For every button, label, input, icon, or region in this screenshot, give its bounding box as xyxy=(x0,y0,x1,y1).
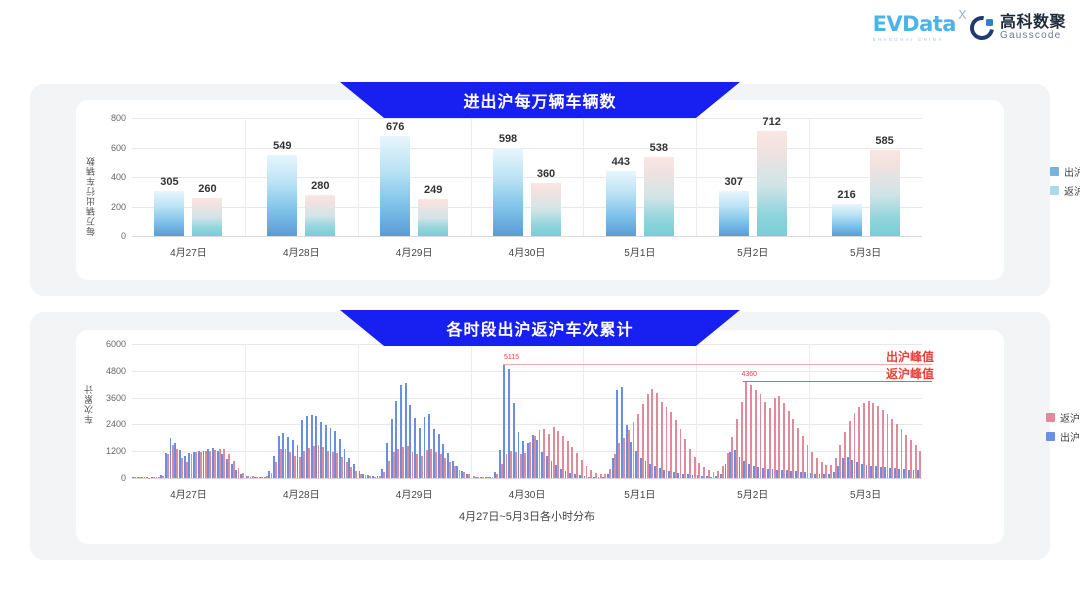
logo-group: EVDataX SHANGHAI CHINA 高科数聚 Gausscode xyxy=(873,14,1066,43)
chart1-legend-label-返沪: 返沪 xyxy=(1064,183,1080,198)
gausscode-en-name: Gausscode xyxy=(1000,31,1066,42)
chart2-peak-value-back: 4360 xyxy=(742,371,758,378)
chart2-bar-back-139 xyxy=(788,411,790,478)
chart2-x-tick-4月29日: 4月29日 xyxy=(396,486,433,501)
chart1-bar-value-返沪-4月28日: 280 xyxy=(311,180,329,192)
chart1-bar-出沪-4月28日 xyxy=(267,155,297,236)
gausscode-mark-icon xyxy=(970,16,994,40)
chart1-y-tick-800: 800 xyxy=(92,113,126,123)
section1-title: 进出沪每万辆车辆数 xyxy=(463,88,616,112)
chart1-bar-value-出沪-4月30日: 598 xyxy=(499,133,517,145)
chart1-x-separator xyxy=(809,118,810,236)
chart1-x-tick-5月1日: 5月1日 xyxy=(624,244,655,259)
chart1-bar-返沪-4月27日 xyxy=(192,198,222,236)
section2-panel: 车次累计0120024003600480060004月27日4月28日4月29日… xyxy=(30,312,1050,560)
chart2-gridline-2400 xyxy=(132,424,922,425)
chart2-x-separator xyxy=(245,344,246,478)
chart2-y-tick-6000: 6000 xyxy=(92,339,126,349)
gausscode-cn-name: 高科数聚 xyxy=(1000,15,1066,32)
chart-vehicles-per-10k: 每万辆出行车辆数02004006008003052604月27日5492804月… xyxy=(76,100,976,280)
chart2-bar-back-115 xyxy=(675,420,677,478)
chart2-legend: 返沪出沪 xyxy=(1046,410,1080,448)
chart1-bar-value-返沪-5月2日: 712 xyxy=(763,116,781,128)
chart1-legend-swatch-返沪 xyxy=(1050,186,1059,195)
chart2-bar-back-141 xyxy=(797,428,799,478)
chart1-bar-value-出沪-4月29日: 676 xyxy=(386,121,404,133)
chart1-bar-value-返沪-5月3日: 585 xyxy=(875,135,893,147)
chart1-bar-出沪-4月27日 xyxy=(154,191,184,236)
chart1-bar-value-返沪-4月30日: 360 xyxy=(537,168,555,180)
chart2-legend-item-返沪[interactable]: 返沪 xyxy=(1046,410,1080,425)
chart2-bar-back-94 xyxy=(576,453,578,478)
chart2-bar-back-134 xyxy=(764,402,766,478)
chart1-bar-出沪-5月2日 xyxy=(719,191,749,236)
chart2-x-tick-5月2日: 5月2日 xyxy=(737,486,768,501)
chart2-y-tick-4800: 4800 xyxy=(92,366,126,376)
chart1-bar-出沪-4月29日 xyxy=(380,136,410,236)
chart1-bar-value-返沪-4月29日: 249 xyxy=(424,184,442,196)
chart1-x-separator xyxy=(358,118,359,236)
chart2-bar-back-140 xyxy=(792,419,794,478)
chart1-gridline-200 xyxy=(132,207,922,208)
section1-card: 每万辆出行车辆数02004006008003052604月27日5492804月… xyxy=(76,100,1004,280)
chart2-legend-label-返沪: 返沪 xyxy=(1060,410,1080,425)
chart1-x-separator xyxy=(471,118,472,236)
chart2-legend-label-出沪: 出沪 xyxy=(1060,429,1080,444)
chart2-bar-back-111 xyxy=(656,393,658,478)
chart2-bar-back-167 xyxy=(919,451,921,478)
chart1-gridline-0 xyxy=(132,236,922,237)
chart2-x-tick-5月1日: 5月1日 xyxy=(624,486,655,501)
chart1-legend-item-返沪[interactable]: 返沪 xyxy=(1050,183,1080,198)
chart2-legend-item-出沪[interactable]: 出沪 xyxy=(1046,429,1080,444)
chart2-x-separator xyxy=(358,344,359,478)
section2-title: 各时段出沪返沪车次累计 xyxy=(446,316,633,340)
chart2-bar-back-110 xyxy=(651,389,653,478)
chart2-bar-back-137 xyxy=(778,396,780,478)
page-header: EVDataX SHANGHAI CHINA 高科数聚 Gausscode xyxy=(0,0,1080,62)
chart1-x-separator xyxy=(696,118,697,236)
section1-banner: 进出沪每万辆车辆数 xyxy=(340,82,740,118)
chart1-y-tick-400: 400 xyxy=(92,172,126,182)
chart1-y-tick-0: 0 xyxy=(92,231,126,241)
chart2-bar-back-112 xyxy=(661,402,663,478)
chart2-peak-value-out: 5115 xyxy=(504,354,519,361)
chart1-x-tick-4月27日: 4月27日 xyxy=(170,244,207,259)
chart1-bar-出沪-4月30日 xyxy=(493,148,523,236)
chart2-x-tick-5月3日: 5月3日 xyxy=(850,486,881,501)
chart2-x-tick-4月28日: 4月28日 xyxy=(283,486,320,501)
chart2-gridline-0 xyxy=(132,478,922,479)
chart1-x-tick-4月28日: 4月28日 xyxy=(283,244,320,259)
chart1-bar-value-出沪-5月2日: 307 xyxy=(725,176,743,188)
chart1-x-separator xyxy=(583,118,584,236)
chart2-bar-back-132 xyxy=(755,390,757,478)
chart2-bar-back-131 xyxy=(750,385,752,478)
chart1-legend-swatch-出沪 xyxy=(1050,167,1059,176)
evdata-superscript-icon: X xyxy=(958,9,966,21)
chart2-legend-swatch-返沪 xyxy=(1046,413,1055,422)
chart1-y-tick-200: 200 xyxy=(92,202,126,212)
chart2-bar-back-138 xyxy=(783,403,785,478)
chart2-bar-back-133 xyxy=(760,394,762,478)
chart2-gridline-3600 xyxy=(132,398,922,399)
chart2-x-tick-4月27日: 4月27日 xyxy=(170,486,207,501)
chart1-gridline-800 xyxy=(132,118,922,119)
chart1-x-tick-5月3日: 5月3日 xyxy=(850,244,881,259)
chart1-gridline-600 xyxy=(132,148,922,149)
chart2-bar-back-116 xyxy=(680,429,682,478)
chart2-peak-label-out: 出沪峰值 xyxy=(886,348,934,365)
section2-card: 车次累计0120024003600480060004月27日4月28日4月29日… xyxy=(76,330,1004,544)
chart2-bar-back-113 xyxy=(666,407,668,478)
chart2-bar-back-114 xyxy=(670,412,672,478)
chart1-x-tick-5月2日: 5月2日 xyxy=(737,244,768,259)
chart1-bar-value-出沪-5月3日: 216 xyxy=(837,189,855,201)
chart2-bar-back-117 xyxy=(684,439,686,478)
chart2-bar-back-118 xyxy=(689,449,691,478)
chart1-legend: 出沪返沪 xyxy=(1050,164,1080,202)
chart1-bar-返沪-4月29日 xyxy=(418,199,448,236)
chart1-bar-返沪-5月1日 xyxy=(644,157,674,236)
chart2-bar-back-135 xyxy=(769,408,771,478)
chart1-bar-返沪-4月28日 xyxy=(305,195,335,236)
dashboard-page: EVDataX SHANGHAI CHINA 高科数聚 Gausscode 进出… xyxy=(0,0,1080,608)
chart1-bar-返沪-4月30日 xyxy=(531,183,561,236)
chart2-bar-back-136 xyxy=(774,398,776,478)
chart1-bar-返沪-5月2日 xyxy=(757,131,787,236)
chart1-bar-出沪-5月1日 xyxy=(606,171,636,236)
section2-banner: 各时段出沪返沪车次累计 xyxy=(340,310,740,346)
chart1-legend-item-出沪[interactable]: 出沪 xyxy=(1050,164,1080,179)
chart1-x-tick-4月30日: 4月30日 xyxy=(509,244,546,259)
chart2-x-caption: 4月27日~5月3日各小时分布 xyxy=(132,508,922,524)
chart1-bar-出沪-5月3日 xyxy=(832,204,862,236)
chart2-gridline-4800 xyxy=(132,371,922,372)
chart2-x-separator xyxy=(471,344,472,478)
chart1-x-separator xyxy=(245,118,246,236)
chart1-bar-value-出沪-4月27日: 305 xyxy=(160,176,178,188)
evdata-tagline: SHANGHAI CHINA xyxy=(873,38,944,43)
chart1-bar-value-出沪-5月1日: 443 xyxy=(612,156,630,168)
gausscode-logo: 高科数聚 Gausscode xyxy=(970,15,1066,42)
chart1-y-tick-600: 600 xyxy=(92,143,126,153)
chart2-bar-back-93 xyxy=(571,447,573,478)
evdata-ev-text: EVData xyxy=(873,12,956,36)
chart1-bar-value-返沪-4月27日: 260 xyxy=(198,183,216,195)
chart1-bar-返沪-5月3日 xyxy=(870,150,900,236)
evdata-logo: EVDataX SHANGHAI CHINA xyxy=(873,14,956,43)
evdata-wordmark: EVDataX xyxy=(873,14,956,35)
chart2-y-tick-1200: 1200 xyxy=(92,446,126,456)
chart1-x-tick-4月29日: 4月29日 xyxy=(396,244,433,259)
chart2-legend-swatch-出沪 xyxy=(1046,432,1055,441)
chart1-bar-value-出沪-4月28日: 549 xyxy=(273,140,291,152)
chart2-y-tick-3600: 3600 xyxy=(92,393,126,403)
chart1-legend-label-出沪: 出沪 xyxy=(1064,164,1080,179)
chart2-y-tick-0: 0 xyxy=(92,473,126,483)
chart2-y-tick-2400: 2400 xyxy=(92,419,126,429)
chart2-x-tick-4月30日: 4月30日 xyxy=(509,486,546,501)
chart2-peak-line-out xyxy=(503,364,932,365)
chart1-gridline-400 xyxy=(132,177,922,178)
chart1-bar-value-返沪-5月1日: 538 xyxy=(650,142,668,154)
chart2-peak-label-back: 返沪峰值 xyxy=(886,365,934,382)
